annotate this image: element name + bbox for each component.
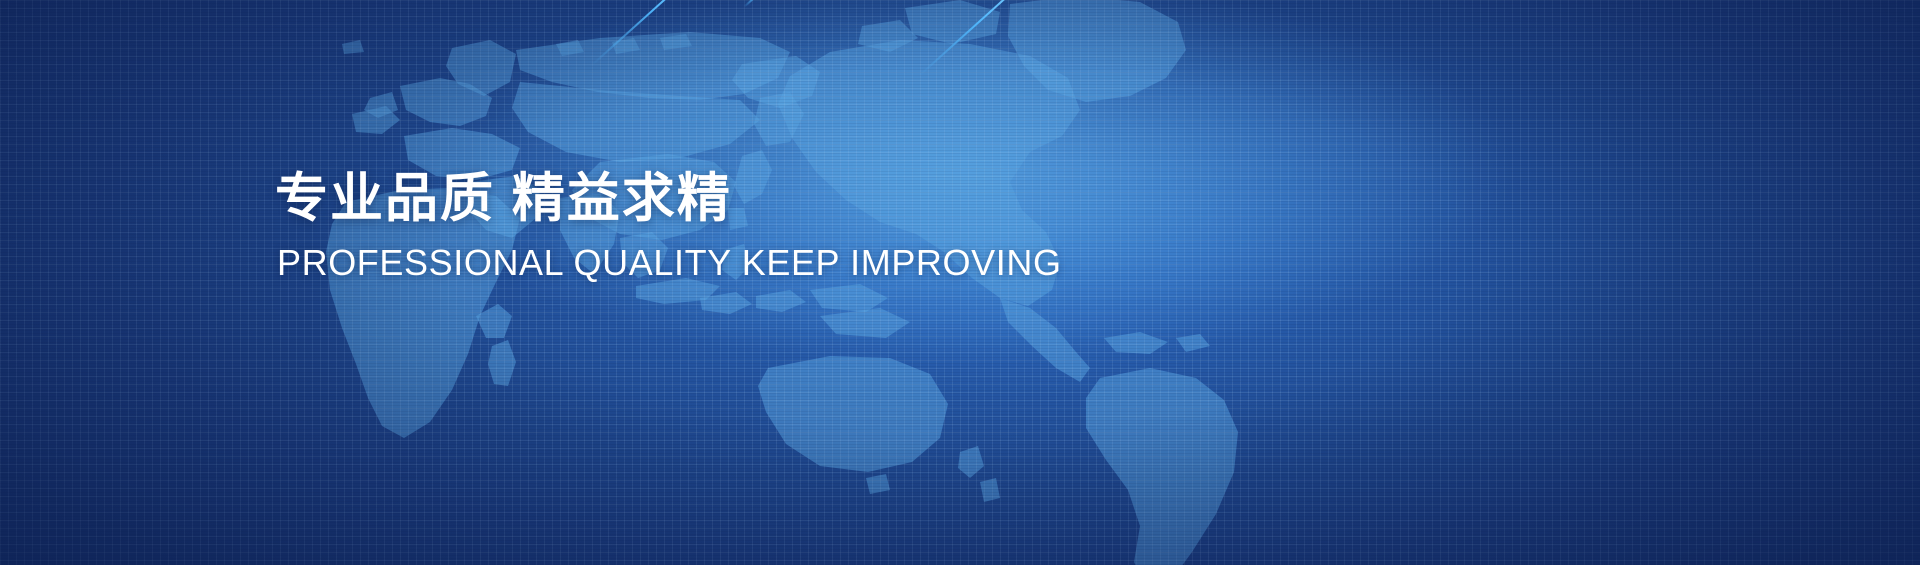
banner-copy-block: 专业品质 精益求精 PROFESSIONAL QUALITY KEEP IMPR… xyxy=(275,168,1062,284)
hero-banner: 专业品质 精益求精 PROFESSIONAL QUALITY KEEP IMPR… xyxy=(0,0,1920,565)
banner-headline-cn: 专业品质 精益求精 xyxy=(275,168,1062,231)
banner-subline-en: PROFESSIONAL QUALITY KEEP IMPROVING xyxy=(277,241,1062,284)
